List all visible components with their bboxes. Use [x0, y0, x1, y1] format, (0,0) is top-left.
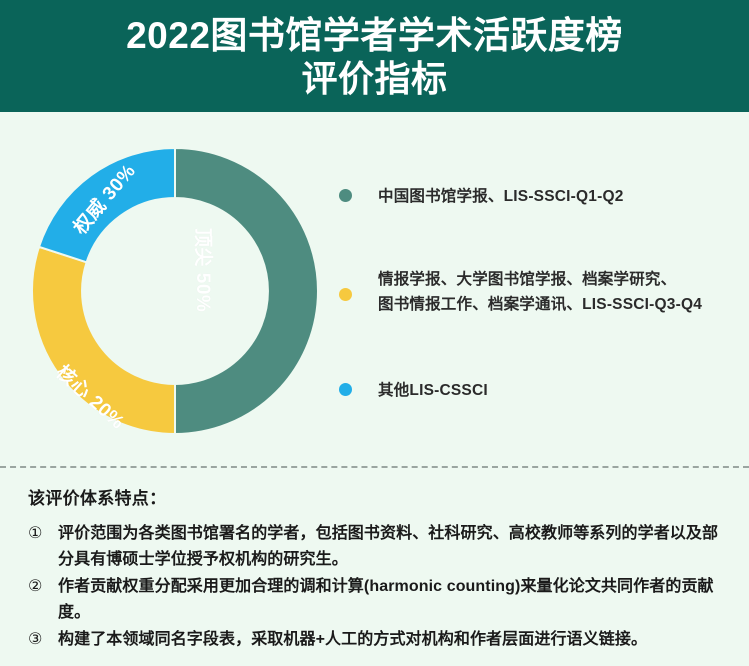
- infographic-page: 2022图书馆学者学术活跃度榜 评价指标 顶尖 50% 权威 30% 核心 20…: [0, 0, 749, 666]
- legend-item-core[interactable]: 其他LIS-CSSCI: [339, 378, 488, 403]
- page-title-line-1: 2022图书馆学者学术活跃度榜: [126, 14, 623, 58]
- legend-line: 情报学报、大学图书馆学报、档案学研究、: [378, 267, 702, 292]
- legend-label-authority: 情报学报、大学图书馆学报、档案学研究、 图书情报工作、档案学通讯、LIS-SSC…: [378, 267, 702, 317]
- legend-label-top: 中国图书馆学报、LIS-SSCI-Q1-Q2: [378, 184, 624, 209]
- note-item-2: ② 作者贡献权重分配采用更加合理的调和计算(harmonic counting)…: [28, 574, 727, 626]
- legend-line: 图书情报工作、档案学通讯、LIS-SSCI-Q3-Q4: [378, 292, 702, 317]
- note-marker: ③: [28, 627, 58, 653]
- note-item-1: ① 评价范围为各类图书馆署名的学者，包括图书资料、社科研究、高校教师等系列的学者…: [28, 521, 727, 573]
- legend-line: 其他LIS-CSSCI: [378, 378, 488, 403]
- legend-dot-icon-authority: [339, 288, 352, 301]
- legend-dot-icon-core: [339, 383, 352, 396]
- legend-dot-icon-top: [339, 189, 352, 202]
- note-text: 构建了本领域同名字段表，采取机器+人工的方式对机构和作者层面进行语义链接。: [58, 627, 727, 653]
- note-text: 评价范围为各类图书馆署名的学者，包括图书资料、社科研究、高校教师等系列的学者以及…: [58, 521, 727, 573]
- chart-legend: 中国图书馆学报、LIS-SSCI-Q1-Q2 情报学报、大学图书馆学报、档案学研…: [339, 112, 745, 466]
- legend-label-core: 其他LIS-CSSCI: [378, 378, 488, 403]
- page-title-line-2: 评价指标: [301, 58, 447, 100]
- note-item-3: ③ 构建了本领域同名字段表，采取机器+人工的方式对机构和作者层面进行语义链接。: [28, 627, 727, 653]
- header-banner: 2022图书馆学者学术活跃度榜 评价指标: [0, 0, 749, 112]
- legend-item-authority[interactable]: 情报学报、大学图书馆学报、档案学研究、 图书情报工作、档案学通讯、LIS-SSC…: [339, 267, 702, 317]
- legend-item-top[interactable]: 中国图书馆学报、LIS-SSCI-Q1-Q2: [339, 184, 624, 209]
- notes-section: 该评价体系特点： ① 评价范围为各类图书馆署名的学者，包括图书资料、社科研究、高…: [0, 476, 749, 654]
- notes-title: 该评价体系特点：: [28, 484, 727, 509]
- note-marker: ②: [28, 574, 58, 600]
- donut-label-top: 顶尖 50%: [191, 228, 218, 312]
- section-divider: [0, 466, 749, 468]
- note-text: 作者贡献权重分配采用更加合理的调和计算(harmonic counting)来量…: [58, 574, 727, 626]
- note-marker: ①: [28, 521, 58, 547]
- legend-line: 中国图书馆学报、LIS-SSCI-Q1-Q2: [378, 184, 624, 209]
- donut-chart: 顶尖 50% 权威 30% 核心 20%: [32, 148, 318, 434]
